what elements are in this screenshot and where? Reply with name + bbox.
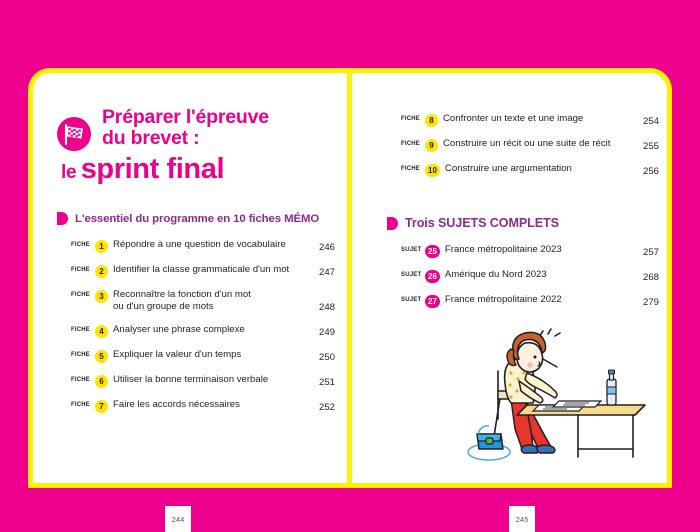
- entry-kind-label: FICHE: [71, 324, 95, 333]
- bullet-marker-icon: [387, 217, 398, 230]
- entry-page-number: 247: [309, 267, 335, 278]
- section-heading-sujets: Trois SUJETS COMPLETS: [387, 216, 659, 230]
- entry-title: Amérique du Nord 2023: [445, 269, 633, 281]
- toc-entry[interactable]: FICHE1Répondre à une question de vocabul…: [71, 233, 335, 258]
- entry-kind-label: FICHE: [71, 374, 95, 383]
- entry-title: Analyser une phrase complexe: [113, 324, 309, 336]
- toc-entry[interactable]: FICHE2Identifier la classe grammaticale …: [71, 258, 335, 283]
- entry-page-number: 250: [309, 352, 335, 363]
- sujet-entry-list: SUJET25France métropolitaine 2023257SUJE…: [387, 238, 659, 313]
- folio-left: 244: [165, 506, 191, 532]
- bullet-marker-icon: [57, 212, 68, 225]
- toc-entry[interactable]: FICHE3Reconnaître la fonction d'un motou…: [71, 283, 335, 319]
- toc-entry[interactable]: FICHE10Construire une argumentation256: [401, 157, 659, 182]
- toc-entry[interactable]: SUJET27France métropolitaine 2022279: [401, 288, 659, 313]
- entry-page-number: 249: [309, 327, 335, 338]
- entry-page-number: 255: [633, 141, 659, 152]
- right-page: FICHE8Confronter un texte et une image25…: [357, 73, 672, 483]
- entry-kind-label: FICHE: [71, 239, 95, 248]
- entry-page-number: 252: [309, 402, 335, 413]
- entry-page-number: 256: [633, 166, 659, 177]
- entry-number-badge: 2: [95, 265, 108, 278]
- entry-number-badge: 7: [95, 400, 108, 413]
- entry-kind-label: SUJET: [401, 244, 425, 253]
- entry-title: France métropolitaine 2022: [445, 294, 633, 306]
- entry-title: Confronter un texte et une image: [443, 113, 633, 125]
- toc-entry[interactable]: FICHE9Construire un récit ou une suite d…: [401, 132, 659, 157]
- entry-kind-label: FICHE: [71, 264, 95, 273]
- entry-title: Utiliser la bonne terminaison verbale: [113, 374, 309, 386]
- memo-entry-list-continued: FICHE8Confronter un texte et une image25…: [387, 107, 659, 182]
- entry-number-badge: 1: [95, 240, 108, 253]
- entry-title: Identifier la classe grammaticale d'un m…: [113, 264, 309, 276]
- entry-kind-label: SUJET: [401, 269, 425, 278]
- toc-entry[interactable]: FICHE4Analyser une phrase complexe249: [71, 319, 335, 344]
- title-line-3-small: le: [61, 162, 76, 183]
- entry-kind-label: FICHE: [401, 163, 425, 172]
- entry-number-badge: 4: [95, 325, 108, 338]
- left-page: Préparer l'épreuve du brevet : le sprint…: [33, 73, 357, 483]
- page-gutter-divider: [347, 68, 352, 488]
- entry-number-badge: 25: [425, 245, 440, 258]
- entry-title: Construire un récit ou une suite de réci…: [443, 138, 633, 150]
- entry-title: Expliquer la valeur d'un temps: [113, 349, 309, 361]
- section-heading-label: L'essentiel du programme en 10 fiches MÉ…: [75, 213, 319, 225]
- memo-entry-list: FICHE1Répondre à une question de vocabul…: [57, 233, 335, 419]
- page-title: Préparer l'épreuve du brevet : le sprint…: [57, 107, 335, 186]
- toc-entry[interactable]: FICHE8Confronter un texte et une image25…: [401, 107, 659, 132]
- entry-title: Reconnaître la fonction d'un motou d'un …: [113, 289, 309, 314]
- entry-number-badge: 5: [95, 350, 108, 363]
- entry-kind-label: FICHE: [71, 399, 95, 408]
- entry-page-number: 248: [309, 302, 335, 313]
- entry-page-number: 246: [309, 242, 335, 253]
- entry-page-number: 254: [633, 116, 659, 127]
- toc-entry[interactable]: FICHE7Faire les accords nécessaires252: [71, 394, 335, 419]
- title-line-1: Préparer l'épreuve: [102, 107, 335, 128]
- entry-number-badge: 26: [425, 270, 440, 283]
- folio-right: 245: [509, 506, 535, 532]
- title-line-2: du brevet :: [102, 128, 335, 149]
- entry-number-badge: 3: [95, 290, 108, 303]
- entry-title: Faire les accords nécessaires: [113, 399, 309, 411]
- entry-page-number: 279: [633, 297, 659, 308]
- entry-number-badge: 8: [425, 114, 438, 127]
- entry-title: Construire une argumentation: [445, 163, 633, 175]
- entry-number-badge: 10: [425, 164, 440, 177]
- title-line-3-big: sprint final: [81, 153, 224, 185]
- toc-entry[interactable]: SUJET26Amérique du Nord 2023268: [401, 263, 659, 288]
- entry-kind-label: SUJET: [401, 294, 425, 303]
- entry-page-number: 251: [309, 377, 335, 388]
- toc-entry[interactable]: SUJET25France métropolitaine 2023257: [401, 238, 659, 263]
- entry-number-badge: 6: [95, 375, 108, 388]
- section-heading-memo: L'essentiel du programme en 10 fiches MÉ…: [57, 212, 335, 225]
- checkered-flag-icon: [57, 117, 91, 151]
- entry-kind-label: FICHE: [71, 349, 95, 358]
- entry-number-badge: 9: [425, 139, 438, 152]
- entry-title: Répondre à une question de vocabulaire: [113, 239, 309, 251]
- entry-kind-label: FICHE: [401, 113, 425, 122]
- entry-page-number: 268: [633, 272, 659, 283]
- entry-kind-label: FICHE: [401, 138, 425, 147]
- entry-number-badge: 27: [425, 295, 440, 308]
- toc-entry[interactable]: FICHE6Utiliser la bonne terminaison verb…: [71, 369, 335, 394]
- entry-title: France métropolitaine 2023: [445, 244, 633, 256]
- entry-kind-label: FICHE: [71, 289, 95, 298]
- section-heading-label: Trois SUJETS COMPLETS: [405, 216, 559, 230]
- title-line-3: le sprint final: [61, 153, 335, 186]
- toc-entry[interactable]: FICHE5Expliquer la valeur d'un temps250: [71, 344, 335, 369]
- student-writing-at-desk-illustration: [467, 321, 667, 471]
- title-lines: Préparer l'épreuve du brevet :: [102, 107, 335, 149]
- entry-page-number: 257: [633, 247, 659, 258]
